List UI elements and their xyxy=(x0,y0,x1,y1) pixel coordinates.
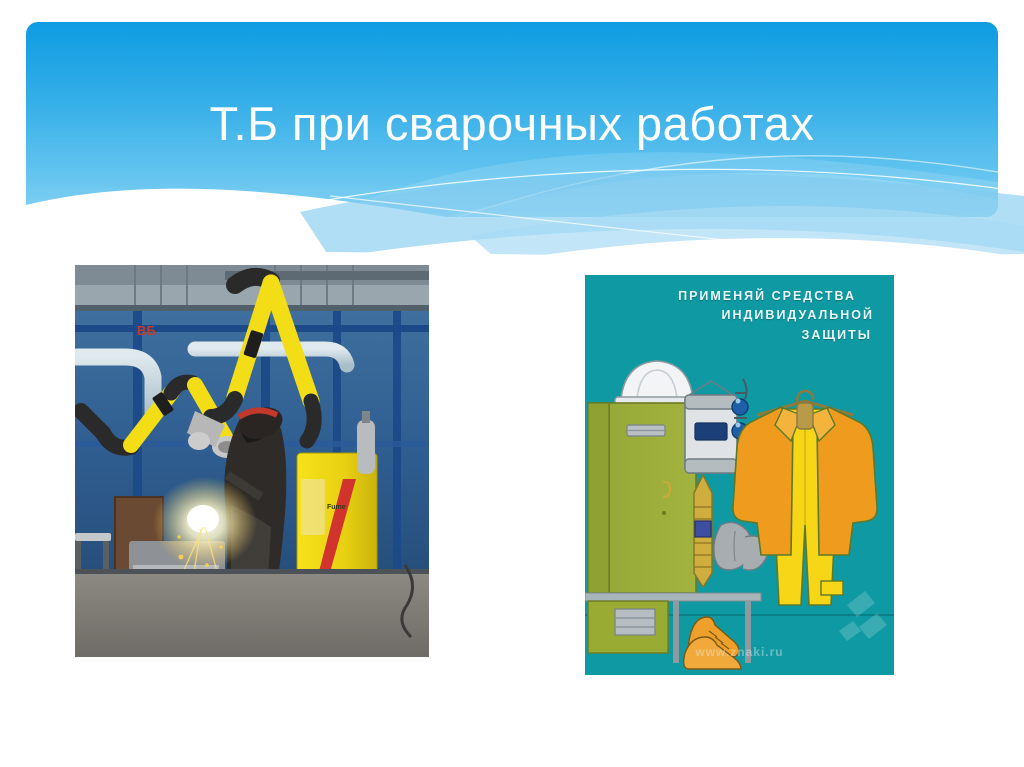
poster-heading: ПРИМЕНЯЙ СРЕДСТВА ИНДИВИДУАЛЬНОЙ ЗАЩИТЫ xyxy=(585,287,880,345)
poster-watermark: www.znaki.ru xyxy=(585,645,894,659)
banner-inner-waves xyxy=(26,22,998,217)
ppe-poster: ПРИМЕНЯЙ СРЕДСТВА ИНДИВИДУАЛЬНОЙ ЗАЩИТЫ … xyxy=(585,275,894,675)
slide-root: Т.Б при сварочных работах xyxy=(0,0,1024,767)
welding-workshop-illustration: ВБ Fume xyxy=(75,265,429,657)
poster-heading-line-3: ЗАЩИТЫ xyxy=(585,326,880,345)
poster-heading-line-1: ПРИМЕНЯЙ СРЕДСТВА xyxy=(585,287,880,306)
svg-text:ВБ: ВБ xyxy=(137,323,156,338)
title-banner: Т.Б при сварочных работах xyxy=(26,22,998,217)
poster-heading-line-2: ИНДИВИДУАЛЬНОЙ xyxy=(585,306,880,325)
welding-workshop-photo: ВБ Fume xyxy=(75,265,429,657)
svg-text:Fume: Fume xyxy=(327,504,346,511)
